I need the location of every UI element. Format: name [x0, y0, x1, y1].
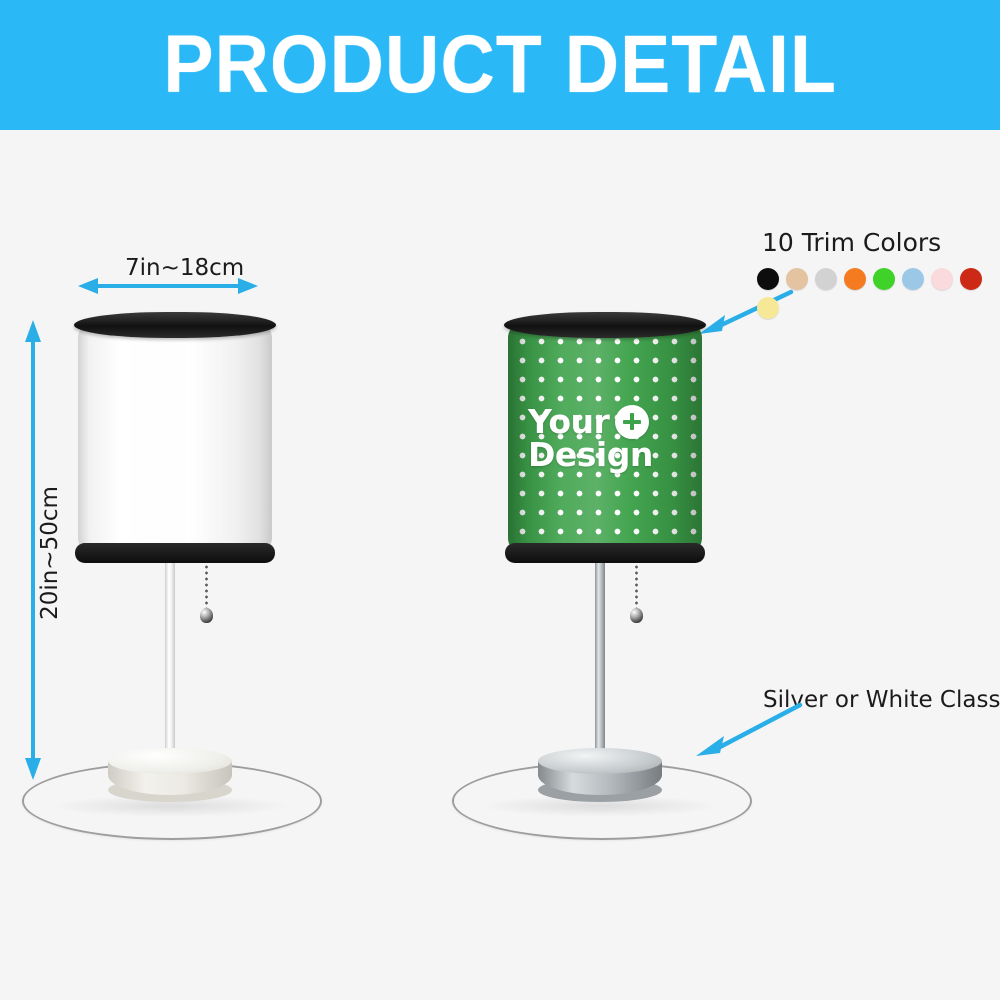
swatch-light-gray[interactable] — [815, 268, 837, 290]
pull-chain-ball[interactable] — [630, 608, 643, 623]
artwork-text-design: Design — [528, 439, 653, 471]
lampshade-white — [78, 312, 272, 557]
custom-artwork: Your Design — [508, 324, 702, 552]
lampshade-body — [78, 324, 272, 552]
lamp-white — [0, 290, 340, 820]
trim-color-swatch-grid[interactable] — [757, 268, 997, 326]
lampshade-bottom-trim — [75, 543, 275, 563]
swatch-row-2 — [757, 297, 997, 319]
pull-chain-ball[interactable] — [200, 608, 213, 623]
header-banner: PRODUCT DETAIL — [0, 0, 1000, 130]
pull-chain[interactable] — [635, 558, 638, 610]
lampshade-bottom-trim — [505, 543, 705, 563]
swatch-row-1 — [757, 268, 997, 290]
lampshade-green: Your Design — [508, 312, 702, 557]
swatch-light-blue[interactable] — [902, 268, 924, 290]
artwork-line-2: Design — [528, 439, 702, 471]
swatch-black[interactable] — [757, 268, 779, 290]
pull-chain[interactable] — [205, 558, 208, 610]
lampshade-top-trim — [504, 312, 706, 338]
lamp-green-custom: Your Design — [430, 290, 770, 820]
trim-colors-label: 10 Trim Colors — [762, 228, 941, 257]
page-title: PRODUCT DETAIL — [163, 24, 837, 106]
artwork-text-your: Your — [528, 406, 609, 438]
swatch-red[interactable] — [960, 268, 982, 290]
swatch-pink[interactable] — [931, 268, 953, 290]
shade-glare — [152, 324, 183, 552]
swatch-orange[interactable] — [844, 268, 866, 290]
lamp-base-white — [108, 748, 232, 802]
lampshade-top-trim — [74, 312, 276, 338]
lamp-pole — [595, 555, 605, 760]
swatch-tan[interactable] — [786, 268, 808, 290]
lamp-base-silver — [538, 748, 662, 802]
lamp-pole — [165, 555, 175, 760]
artwork-line-1: Your — [528, 405, 702, 439]
base-top — [108, 748, 232, 774]
base-top — [538, 748, 662, 774]
lampshade-body: Your Design — [508, 324, 702, 552]
swatch-green[interactable] — [873, 268, 895, 290]
product-detail-infographic: PRODUCT DETAIL 7in~18cm 20in~50cm 10 Tri… — [0, 0, 1000, 1000]
plus-icon — [615, 405, 649, 439]
